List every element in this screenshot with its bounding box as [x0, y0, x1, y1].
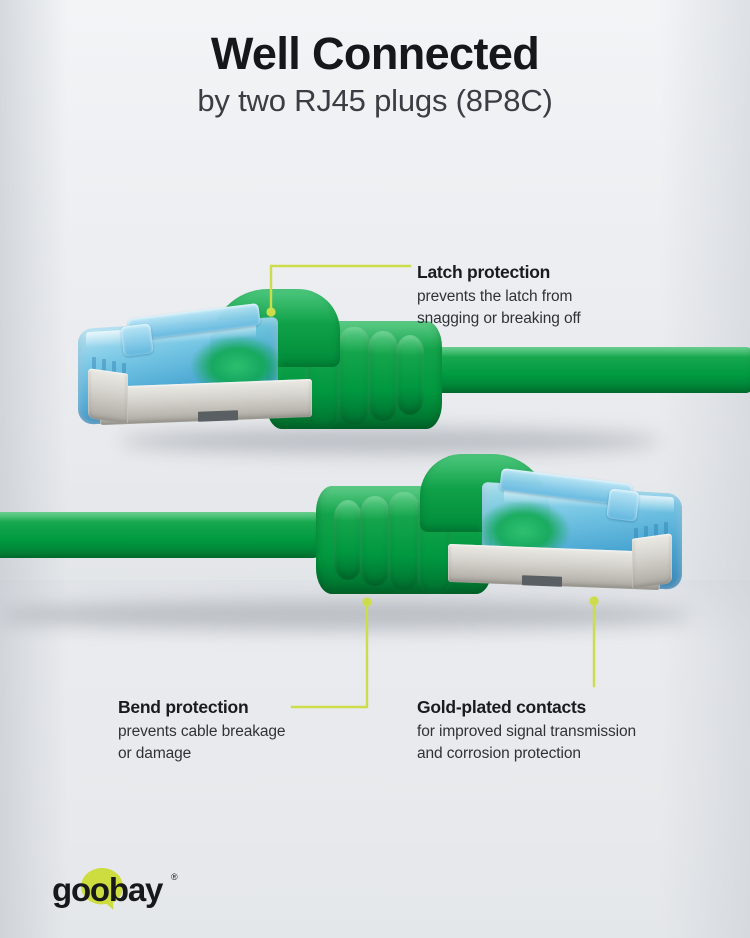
bottom-boot-rib	[388, 492, 420, 590]
annotation-gold-plated-contacts: Gold-plated contacts for improved signal…	[417, 697, 636, 765]
annotation-title: Gold-plated contacts	[417, 697, 636, 719]
bottom-boot-rib	[334, 500, 362, 580]
annotation-bend-protection: Bend protection prevents cable breakage …	[118, 697, 285, 765]
bottom-latch-tab-tip	[606, 488, 639, 521]
annotation-line: snagging or breaking off	[417, 308, 581, 330]
bottom-shield-notch	[522, 575, 562, 587]
top-shield-notch	[198, 410, 238, 422]
annotation-latch-protection: Latch protection prevents the latch from…	[417, 262, 581, 330]
top-boot-rib	[368, 331, 398, 421]
bottom-boot-rib	[360, 496, 390, 586]
annotation-title: Bend protection	[118, 697, 285, 719]
page-title: Well Connected	[0, 30, 750, 77]
top-shield-front-face	[88, 368, 128, 424]
bottom-cable-cord	[0, 512, 320, 558]
annotation-line: or damage	[118, 743, 285, 765]
logo-wordmark: goobay	[52, 868, 162, 912]
annotation-line: for improved signal transmission	[417, 721, 636, 743]
top-boot-rib	[338, 327, 370, 425]
header: Well Connected by two RJ45 plugs (8P8C)	[0, 30, 750, 118]
annotation-line: prevents cable breakage	[118, 721, 285, 743]
top-latch-tab-tip	[120, 323, 153, 356]
bottom-rj45-connector	[0, 440, 690, 630]
top-boot-rib	[396, 335, 424, 415]
page-subtitle: by two RJ45 plugs (8P8C)	[0, 84, 750, 118]
top-rj45-connector	[70, 265, 750, 450]
annotation-line: prevents the latch from	[417, 286, 581, 308]
top-cable-cord	[418, 347, 750, 393]
annotation-title: Latch protection	[417, 262, 581, 284]
bottom-shield-front-face	[632, 533, 672, 589]
goobay-logo: goobay ®	[52, 868, 187, 912]
infographic-canvas: Well Connected by two RJ45 plugs (8P8C)	[0, 0, 750, 938]
logo-registered-mark: ®	[171, 872, 178, 882]
annotation-line: and corrosion protection	[417, 743, 636, 765]
